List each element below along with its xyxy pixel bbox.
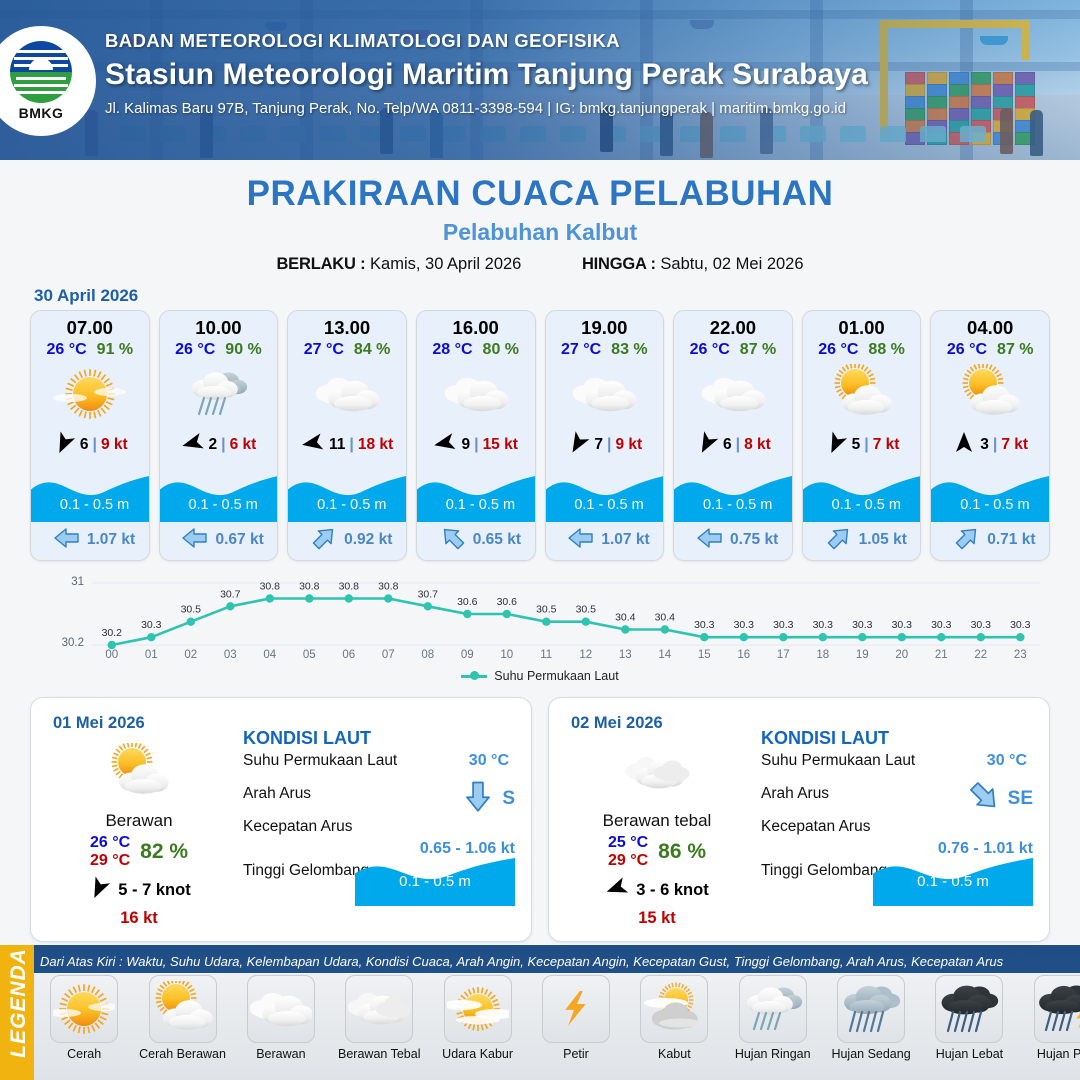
daily-summary-row: 01 Mei 2026 Berawan 26 °C 29 °C 82 % <box>0 691 1080 942</box>
bmkg-logo-text: BMKG <box>19 105 64 121</box>
day-temp-hum-row: 26 °C 29 °C 82 % <box>41 834 237 870</box>
card-temp-hum-row: 26 °C 88 % <box>803 341 921 359</box>
svg-text:30.8: 30.8 <box>299 581 320 593</box>
page-title: PRAKIRAAN CUACA PELABUHAN <box>0 174 1080 214</box>
chart-xtick: 05 <box>290 649 330 661</box>
wind-direction-arrow-icon <box>52 431 76 460</box>
sst-chart: Suhu Permukaan Laut 30.230.330.530.730.8… <box>26 573 1054 691</box>
svg-text:30.6: 30.6 <box>497 596 518 608</box>
card-temp-hum-row: 27 °C 83 % <box>546 341 664 359</box>
card-gust-speed: 7 kt <box>873 436 900 454</box>
hourly-card: 01.00 26 °C 88 % 5 | 7 kt 0.1 - 0.5 m <box>802 310 922 561</box>
card-current-row: 0.92 kt <box>288 524 407 556</box>
day-humidity: 86 % <box>658 840 706 864</box>
chart-xtick: 13 <box>606 649 646 661</box>
sea-row-current-speed: Kecepatan Arus 0.76 - 1.01 kt <box>761 818 1039 848</box>
card-time: 04.00 <box>931 317 1049 339</box>
card-current-speed: 0.71 kt <box>987 531 1035 549</box>
sea-label-wave-height: Tinggi Gelombang <box>243 862 369 879</box>
wind-direction-arrow-icon <box>181 431 205 460</box>
card-current-row: 0.67 kt <box>160 524 279 556</box>
card-humidity: 87 % <box>740 341 776 359</box>
sea-value-sst: 30 °C <box>469 752 509 770</box>
chart-xtick: 00 <box>92 649 132 661</box>
svg-text:30.3: 30.3 <box>852 619 873 631</box>
legend-item-label: Kabut <box>658 1047 691 1061</box>
card-temp-hum-row: 26 °C 90 % <box>160 341 278 359</box>
day-gust-speed: 16 kt <box>41 909 237 928</box>
card-wave-height: 0.1 - 0.5 m <box>674 497 793 513</box>
card-temperature: 26 °C <box>690 341 730 359</box>
card-temperature: 26 °C <box>175 341 215 359</box>
current-direction-arrow-icon <box>968 781 1000 816</box>
card-time: 01.00 <box>803 317 921 339</box>
wind-direction-arrow-icon <box>695 431 719 460</box>
legend-item: Kabut <box>626 975 722 1061</box>
day-condition: Berawan <box>41 811 237 831</box>
legend-item: Petir <box>528 975 624 1061</box>
card-time: 16.00 <box>417 317 535 339</box>
card-temp-hum-row: 28 °C 80 % <box>417 341 535 359</box>
svg-text:30.3: 30.3 <box>813 619 834 631</box>
svg-text:30.3: 30.3 <box>1010 619 1031 631</box>
chart-xtick: 15 <box>685 649 725 661</box>
card-current-speed: 0.75 kt <box>730 531 778 549</box>
legend-note: Dari Atas Kiri : Waktu, Suhu Udara, Kele… <box>40 954 1074 969</box>
wind-direction-arrow-icon <box>301 431 325 460</box>
valid-to-label: HINGGA : <box>582 255 656 273</box>
validity-line: BERLAKU : Kamis, 30 April 2026 HINGGA : … <box>0 255 1080 274</box>
sea-label-wave-height: Tinggi Gelombang <box>761 862 887 879</box>
wave-graphic-icon <box>803 466 922 522</box>
day-temp-hum-row: 25 °C 29 °C 86 % <box>559 834 755 870</box>
day-temp-min: 26 °C <box>90 834 130 852</box>
card-temp-hum-row: 26 °C 91 % <box>31 341 149 359</box>
sea-row-current-speed: Kecepatan Arus 0.65 - 1.06 kt <box>243 818 521 848</box>
wave-graphic-icon <box>674 466 793 522</box>
svg-text:30.7: 30.7 <box>418 588 439 600</box>
svg-text:30.3: 30.3 <box>773 619 794 631</box>
card-wave-height: 0.1 - 0.5 m <box>160 497 279 513</box>
card-current-speed: 0.92 kt <box>344 531 392 549</box>
day-date: 01 Mei 2026 <box>53 714 145 733</box>
card-temperature: 26 °C <box>46 341 86 359</box>
infographic-page: BMKG BADAN METEOROLOGI KLIMATOLOGI DAN G… <box>0 0 1080 1080</box>
legend-item: Berawan <box>233 975 329 1061</box>
wind-direction-arrow-icon <box>566 431 590 460</box>
chart-xtick: 17 <box>764 649 804 661</box>
svg-text:30.4: 30.4 <box>615 612 636 624</box>
chart-xtick: 10 <box>487 649 527 661</box>
legend-item-label: Cerah <box>67 1047 101 1061</box>
sea-conditions-title: KONDISI LAUT <box>243 728 521 749</box>
card-humidity: 87 % <box>997 341 1033 359</box>
card-wind-separator: | <box>93 436 97 454</box>
day-condition: Berawan tebal <box>559 811 755 831</box>
svg-text:30.5: 30.5 <box>181 604 202 616</box>
card-wind-direction: 2 <box>209 436 218 454</box>
weather-berawan-icon <box>417 361 535 427</box>
card-wind-direction: 11 <box>329 436 345 454</box>
valid-to-value: Sabtu, 02 Mei 2026 <box>660 255 803 273</box>
card-time: 10.00 <box>160 317 278 339</box>
day-temp-max: 29 °C <box>608 852 648 870</box>
card-temperature: 26 °C <box>818 341 858 359</box>
card-gust-speed: 9 kt <box>616 436 643 454</box>
chart-ytick-max: 31 <box>28 576 84 588</box>
legend-item-label: Berawan <box>256 1047 305 1061</box>
current-direction-arrow-icon <box>311 527 337 554</box>
hourly-card: 13.00 27 °C 84 % 11 | 18 kt <box>287 310 407 561</box>
legend-item-label: Hujan Ringan <box>735 1047 811 1061</box>
card-temperature: 27 °C <box>561 341 601 359</box>
legend-item-label: Petir <box>563 1047 589 1061</box>
wind-direction-arrow-icon <box>87 876 111 905</box>
chart-legend-label: Suhu Permukaan Laut <box>494 669 618 683</box>
current-direction-arrow-icon <box>462 781 494 816</box>
card-wave-height: 0.1 - 0.5 m <box>546 497 665 513</box>
day-temp-min: 25 °C <box>608 834 648 852</box>
chart-xtick: 16 <box>724 649 764 661</box>
current-direction-arrow-icon <box>54 527 80 554</box>
card-current-row: 1.07 kt <box>31 524 150 556</box>
card-wind-direction: 3 <box>980 436 989 454</box>
wave-graphic-icon <box>417 466 536 522</box>
card-wave-height: 0.1 - 0.5 m <box>931 497 1050 513</box>
svg-text:30.3: 30.3 <box>931 619 952 631</box>
agency-name: BADAN METEOROLOGI KLIMATOLOGI DAN GEOFIS… <box>105 30 1035 52</box>
chart-xtick: 19 <box>843 649 883 661</box>
legend-item: Udara Kabur <box>429 975 525 1061</box>
wind-direction-arrow-icon <box>824 431 848 460</box>
current-direction-arrow-icon <box>440 527 466 554</box>
legend-item: Berawan Tebal <box>331 975 427 1061</box>
card-wind-row: 3 | 7 kt <box>931 429 1049 461</box>
wave-graphic-icon <box>288 466 407 522</box>
card-current-row: 1.05 kt <box>803 524 922 556</box>
chart-xtick: 07 <box>369 649 409 661</box>
sea-label-sst: Suhu Permukaan Laut <box>243 752 397 769</box>
card-wind-row: 9 | 15 kt <box>417 429 535 461</box>
weather-berawan-tebal-icon <box>345 975 413 1043</box>
chart-xtick: 03 <box>211 649 251 661</box>
card-wind-separator: | <box>993 436 997 454</box>
chart-xtick: 20 <box>882 649 922 661</box>
svg-text:30.4: 30.4 <box>655 612 676 624</box>
sea-value-wave-height: 0.1 - 0.5 m <box>355 873 515 890</box>
current-direction-arrow-icon <box>697 527 723 554</box>
card-wind-row: 6 | 8 kt <box>674 429 792 461</box>
legend-item: Cerah <box>36 975 132 1061</box>
sea-row-current-direction: Arah Arus S <box>243 785 521 815</box>
weather-kabut-icon <box>640 975 708 1043</box>
weather-berawan-icon <box>674 361 792 427</box>
card-time: 19.00 <box>546 317 664 339</box>
day-sea-conditions: KONDISI LAUT Suhu Permukaan Laut 30 °C A… <box>243 728 521 892</box>
day-left-column: Berawan 26 °C 29 °C 82 % 5 - 7 knot 16 k… <box>41 742 237 928</box>
chart-xtick: 09 <box>448 649 488 661</box>
current-direction-arrow-icon <box>182 527 208 554</box>
contact-line: Jl. Kalimas Baru 97B, Tanjung Perak, No.… <box>105 100 1035 117</box>
card-wind-row: 5 | 7 kt <box>803 429 921 461</box>
legend-item-label: Hujan Sedang <box>831 1047 910 1061</box>
weather-hujan-sedang-icon <box>837 975 905 1043</box>
forecast-date-label: 30 April 2026 <box>34 286 1080 306</box>
card-gust-speed: 18 kt <box>358 436 393 454</box>
hourly-card: 19.00 27 °C 83 % 7 | 9 kt 0. <box>545 310 665 561</box>
weather-udara-kabur-icon <box>444 975 512 1043</box>
legend-item: Hujan Sedang <box>823 975 919 1061</box>
wave-graphic-icon <box>160 466 279 522</box>
day-wind-row: 5 - 7 knot <box>41 876 237 905</box>
weather-berawan-icon <box>288 361 406 427</box>
card-gust-speed: 8 kt <box>744 436 771 454</box>
chart-xtick: 08 <box>408 649 448 661</box>
legend-item-label: Hujan Petir <box>1037 1047 1080 1061</box>
sea-value-current-direction: SE <box>1008 788 1033 810</box>
chart-legend: Suhu Permukaan Laut <box>26 669 1054 683</box>
card-gust-speed: 7 kt <box>1001 436 1028 454</box>
weather-berawan-icon <box>546 361 664 427</box>
chart-ytick-min: 30.2 <box>28 637 84 649</box>
chart-xtick: 02 <box>171 649 211 661</box>
weather-cerah-berawan-icon <box>803 361 921 427</box>
valid-from-value: Kamis, 30 April 2026 <box>370 255 521 273</box>
svg-text:30.7: 30.7 <box>220 588 241 600</box>
hourly-card: 22.00 26 °C 87 % 6 | 8 kt 0. <box>673 310 793 561</box>
day-wind-row: 3 - 6 knot <box>559 876 755 905</box>
chart-plot-area: 30.230.330.530.730.830.830.830.830.730.6… <box>92 583 1040 645</box>
card-current-speed: 1.05 kt <box>859 531 907 549</box>
legend-item-label: Cerah Berawan <box>139 1047 226 1061</box>
chart-xtick: 23 <box>1001 649 1041 661</box>
weather-berawan-icon <box>247 975 315 1043</box>
card-time: 22.00 <box>674 317 792 339</box>
svg-text:30.8: 30.8 <box>378 581 399 593</box>
weather-berawan-tebal-icon <box>559 742 755 804</box>
sea-value-sst: 30 °C <box>987 752 1027 770</box>
card-time: 13.00 <box>288 317 406 339</box>
wind-direction-arrow-icon <box>433 431 457 460</box>
chart-xtick: 04 <box>250 649 290 661</box>
weather-hujan-ringan-icon <box>160 361 278 427</box>
card-wind-direction: 6 <box>80 436 89 454</box>
legend-item: Hujan Lebat <box>921 975 1017 1061</box>
card-humidity: 80 % <box>483 341 519 359</box>
chart-legend-marker-icon <box>461 675 487 678</box>
weather-cerah-berawan-icon <box>931 361 1049 427</box>
card-wind-separator: | <box>607 436 611 454</box>
svg-text:30.3: 30.3 <box>141 619 162 631</box>
sea-value-wave-height: 0.1 - 0.5 m <box>873 873 1033 890</box>
svg-text:30.3: 30.3 <box>694 619 715 631</box>
card-humidity: 83 % <box>611 341 647 359</box>
chart-xtick: 12 <box>566 649 606 661</box>
chart-xtick: 22 <box>961 649 1001 661</box>
card-wind-separator: | <box>736 436 740 454</box>
card-humidity: 90 % <box>225 341 261 359</box>
svg-text:30.5: 30.5 <box>576 604 597 616</box>
card-current-row: 0.65 kt <box>417 524 536 556</box>
svg-text:30.8: 30.8 <box>339 581 360 593</box>
legend-item: Cerah Berawan <box>134 975 230 1061</box>
svg-text:30.3: 30.3 <box>892 619 913 631</box>
legend-item-label: Udara Kabur <box>442 1047 513 1061</box>
card-wind-row: 11 | 18 kt <box>288 429 406 461</box>
card-time: 07.00 <box>31 317 149 339</box>
page-subtitle: Pelabuhan Kalbut <box>0 219 1080 246</box>
card-temp-hum-row: 26 °C 87 % <box>674 341 792 359</box>
station-name: Stasiun Meteorologi Maritim Tanjung Pera… <box>105 58 1035 92</box>
legend-item: Hujan Ringan <box>725 975 821 1061</box>
chart-xtick: 21 <box>922 649 962 661</box>
card-wind-separator: | <box>864 436 868 454</box>
card-wind-direction: 7 <box>594 436 603 454</box>
card-humidity: 88 % <box>868 341 904 359</box>
card-temp-hum-row: 27 °C 84 % <box>288 341 406 359</box>
weather-cerah-berawan-icon <box>41 742 237 804</box>
sea-label-current-direction: Arah Arus <box>761 785 829 802</box>
weather-hujan-ringan-icon <box>739 975 807 1043</box>
daily-summary-card: 02 Mei 2026 Berawan tebal 25 °C <box>548 697 1050 942</box>
card-wind-separator: | <box>474 436 478 454</box>
wave-graphic-icon <box>31 466 150 522</box>
card-gust-speed: 6 kt <box>230 436 257 454</box>
card-wind-separator: | <box>349 436 353 454</box>
weather-petir-icon <box>542 975 610 1043</box>
valid-from-label: BERLAKU : <box>276 255 365 273</box>
card-wind-separator: | <box>221 436 225 454</box>
day-left-column: Berawan tebal 25 °C 29 °C 86 % 3 - 6 kno… <box>559 742 755 928</box>
sea-label-current-speed: Kecepatan Arus <box>761 818 870 835</box>
weather-cerah-icon <box>31 361 149 427</box>
current-direction-arrow-icon <box>826 527 852 554</box>
bmkg-logo-disc <box>10 41 72 103</box>
current-direction-arrow-icon <box>568 527 594 554</box>
svg-text:30.5: 30.5 <box>536 604 557 616</box>
sea-label-sst: Suhu Permukaan Laut <box>761 752 915 769</box>
card-wind-direction: 6 <box>723 436 732 454</box>
svg-text:30.8: 30.8 <box>260 581 281 593</box>
legend-item-label: Hujan Lebat <box>936 1047 1003 1061</box>
header-banner: BMKG BADAN METEOROLOGI KLIMATOLOGI DAN G… <box>0 0 1080 160</box>
day-wind-speed: 3 - 6 knot <box>636 881 708 900</box>
card-humidity: 91 % <box>97 341 133 359</box>
card-current-speed: 1.07 kt <box>601 531 649 549</box>
chart-xtick: 01 <box>132 649 172 661</box>
weather-hujan-petir-icon <box>1034 975 1080 1043</box>
sea-label-current-speed: Kecepatan Arus <box>243 818 352 835</box>
chart-xtick: 06 <box>329 649 369 661</box>
card-gust-speed: 9 kt <box>101 436 128 454</box>
card-gust-speed: 15 kt <box>483 436 518 454</box>
wind-direction-arrow-icon <box>952 431 976 460</box>
card-wave-height: 0.1 - 0.5 m <box>803 497 922 513</box>
chart-xaxis-labels: 0001020304050607080910111213141516171819… <box>92 649 1040 661</box>
day-gust-speed: 15 kt <box>559 909 755 928</box>
card-wave-height: 0.1 - 0.5 m <box>288 497 407 513</box>
card-temperature: 27 °C <box>304 341 344 359</box>
legend-bar: LEGENDA Dari Atas Kiri : Waktu, Suhu Uda… <box>0 945 1080 1080</box>
day-temp-max: 29 °C <box>90 852 130 870</box>
sea-row-current-direction: Arah Arus SE <box>761 785 1039 815</box>
sea-row-wave-height: Tinggi Gelombang 0.1 - 0.5 m <box>761 862 1039 892</box>
sea-row-sst: Suhu Permukaan Laut 30 °C <box>243 752 521 782</box>
weather-cerah-icon <box>50 975 118 1043</box>
card-temperature: 26 °C <box>947 341 987 359</box>
card-humidity: 84 % <box>354 341 390 359</box>
legend-item-label: Berawan Tebal <box>338 1047 420 1061</box>
sea-row-sst: Suhu Permukaan Laut 30 °C <box>761 752 1039 782</box>
chart-xtick: 18 <box>803 649 843 661</box>
svg-text:30.3: 30.3 <box>734 619 755 631</box>
day-wind-speed: 5 - 7 knot <box>118 881 190 900</box>
card-wave-height: 0.1 - 0.5 m <box>417 497 536 513</box>
card-current-speed: 0.67 kt <box>215 531 263 549</box>
card-wind-direction: 5 <box>852 436 861 454</box>
svg-text:30.2: 30.2 <box>102 627 123 639</box>
card-current-speed: 1.07 kt <box>87 531 135 549</box>
day-date: 02 Mei 2026 <box>571 714 663 733</box>
svg-text:30.6: 30.6 <box>457 596 478 608</box>
hourly-card: 10.00 26 °C 90 % 2 | 6 kt 0. <box>159 310 279 561</box>
sea-conditions-title: KONDISI LAUT <box>761 728 1039 749</box>
weather-hujan-lebat-icon <box>935 975 1003 1043</box>
chart-xtick: 11 <box>527 649 567 661</box>
wind-direction-arrow-icon <box>605 876 629 905</box>
day-humidity: 82 % <box>140 840 188 864</box>
card-current-row: 0.71 kt <box>931 524 1050 556</box>
wave-graphic-icon <box>931 466 1050 522</box>
card-current-row: 1.07 kt <box>546 524 665 556</box>
card-wind-row: 6 | 9 kt <box>31 429 149 461</box>
day-sea-conditions: KONDISI LAUT Suhu Permukaan Laut 30 °C A… <box>761 728 1039 892</box>
legend-item: Hujan Petir <box>1020 975 1080 1061</box>
card-current-speed: 0.65 kt <box>473 531 521 549</box>
hourly-forecast-row: 07.00 26 °C 91 % 6 | 9 kt 0.1 - 0.5 m 1.… <box>0 310 1080 561</box>
hourly-card: 07.00 26 °C 91 % 6 | 9 kt 0.1 - 0.5 m 1.… <box>30 310 150 561</box>
sea-label-current-direction: Arah Arus <box>243 785 311 802</box>
svg-text:30.3: 30.3 <box>971 619 992 631</box>
card-temperature: 28 °C <box>432 341 472 359</box>
sea-value-current-direction: S <box>502 788 515 810</box>
hourly-card: 16.00 28 °C 80 % 9 | 15 kt 0 <box>416 310 536 561</box>
current-direction-arrow-icon <box>954 527 980 554</box>
daily-summary-card: 01 Mei 2026 Berawan 26 °C 29 °C 82 % <box>30 697 532 942</box>
card-current-row: 0.75 kt <box>674 524 793 556</box>
wave-graphic-icon <box>546 466 665 522</box>
card-wave-height: 0.1 - 0.5 m <box>31 497 150 513</box>
legend-word: LEGENDA <box>7 942 31 1064</box>
card-wind-row: 7 | 9 kt <box>546 429 664 461</box>
title-block: PRAKIRAAN CUACA PELABUHAN Pelabuhan Kalb… <box>0 174 1080 274</box>
card-wind-row: 2 | 6 kt <box>160 429 278 461</box>
sea-row-wave-height: Tinggi Gelombang 0.1 - 0.5 m <box>243 862 521 892</box>
hourly-card: 04.00 26 °C 87 % 3 | 7 kt 0.1 - 0.5 m <box>930 310 1050 561</box>
header-text-block: BADAN METEOROLOGI KLIMATOLOGI DAN GEOFIS… <box>105 30 1035 117</box>
card-temp-hum-row: 26 °C 87 % <box>931 341 1049 359</box>
chart-xtick: 14 <box>645 649 685 661</box>
legend-item-list: Cerah Cerah Berawan Ber <box>36 975 1080 1061</box>
card-wind-direction: 9 <box>461 436 470 454</box>
weather-cerah-berawan-icon <box>149 975 217 1043</box>
